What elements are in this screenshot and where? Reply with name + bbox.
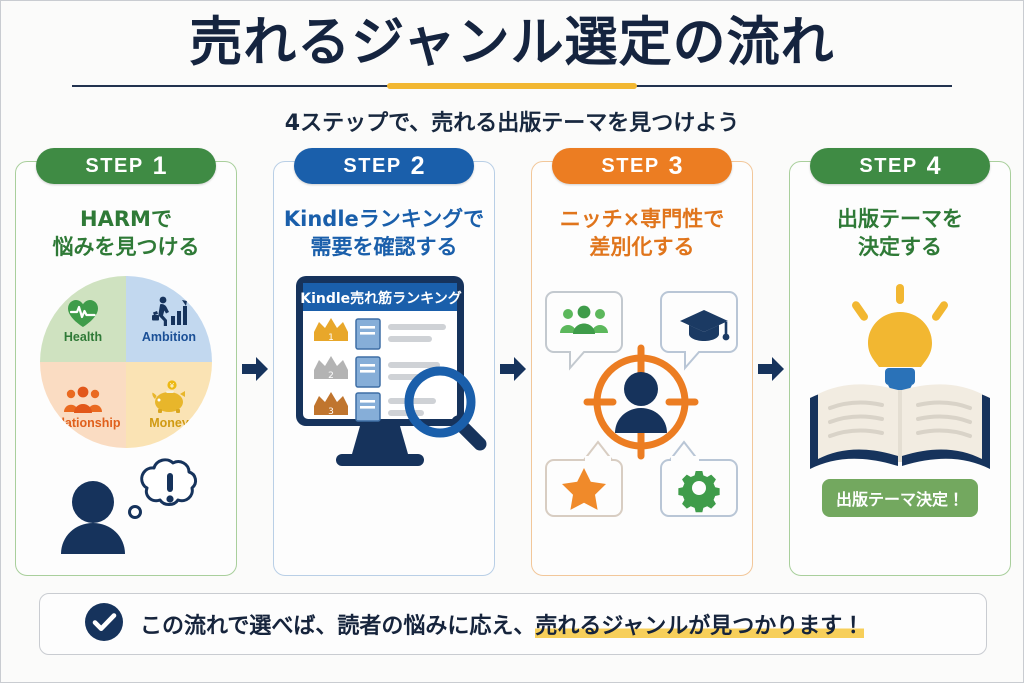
step-badge-number: 1	[153, 152, 167, 181]
step-card-2: STEP 2 Kindleランキングで 需要を確認する	[273, 161, 495, 576]
step-badge-number: 2	[411, 152, 425, 181]
step-title-line1: 出版テーマを	[790, 206, 1010, 234]
step-title-3: ニッチ×専門性で 差別化する	[532, 206, 752, 261]
page-title: 売れるジャンル選定の流れ	[1, 15, 1023, 71]
right-arrow-icon	[240, 354, 270, 384]
steps-row: STEP 1 HARMで 悩みを見つける Heal	[15, 161, 1011, 581]
step-title-line2: 悩みを見つける	[16, 234, 236, 262]
harm-quadrant-money: ¥ Money	[126, 362, 212, 448]
step-title-line1: HARMで	[16, 206, 236, 234]
right-arrow-icon	[756, 354, 786, 384]
step-title-line2: 決定する	[790, 234, 1010, 262]
step-badge-label: STEP	[859, 155, 917, 178]
step-title-line2: 差別化する	[532, 234, 752, 262]
step-badge-2: STEP 2	[294, 148, 474, 184]
svg-text:1: 1	[328, 333, 334, 343]
people-group-icon	[62, 380, 104, 414]
harm-quadrant-relationship: Relationship	[40, 362, 126, 448]
target-person-icon	[587, 348, 695, 456]
step-badge-4: STEP 4	[810, 148, 990, 184]
svg-text:2: 2	[328, 371, 334, 381]
harm-label-ambition: Ambition	[142, 330, 196, 344]
step-badge-label: STEP	[85, 155, 143, 178]
harm-label-money: Money	[149, 416, 189, 430]
step-arrow-3	[753, 161, 789, 576]
heart-pulse-icon	[66, 294, 100, 328]
footer-banner: この流れで選べば、読者の悩みに応え、売れるジャンルが見つかります！	[39, 593, 987, 655]
bubble-gear	[661, 442, 737, 516]
step-badge-number: 3	[669, 152, 683, 181]
screen-header-label: Kindle売れ筋ランキング	[300, 288, 462, 308]
harm-circle: Health	[40, 276, 212, 448]
infographic-page: 売れるジャンル選定の流れ 4ステップで、売れる出版テーマを見つけよう STEP …	[0, 0, 1024, 683]
step-title-line2: 需要を確認する	[274, 234, 494, 262]
step-card-1: STEP 1 HARMで 悩みを見つける Heal	[15, 161, 237, 576]
climbing-person-chart-icon	[149, 294, 189, 328]
step-badge-number: 4	[927, 152, 941, 181]
step-title-4: 出版テーマを 決定する	[790, 206, 1010, 261]
step-arrow-2	[495, 161, 531, 576]
piggy-bank-icon: ¥	[150, 380, 188, 414]
bubble-people	[546, 292, 622, 368]
check-circle-icon	[84, 602, 124, 647]
harm-quadrant-health: Health	[40, 276, 126, 362]
step-badge-label: STEP	[343, 155, 401, 178]
right-arrow-icon	[498, 354, 528, 384]
harm-label-relationship: Relationship	[45, 416, 120, 430]
title-divider	[72, 83, 952, 89]
harm-label-health: Health	[64, 330, 102, 344]
footer-text: この流れで選べば、読者の悩みに応え、売れるジャンルが見つかります！	[140, 608, 864, 640]
bubble-graduation	[661, 292, 737, 368]
step-badge-1: STEP 1	[36, 148, 216, 184]
harm-quadrant-ambition: Ambition	[126, 276, 212, 362]
header: 売れるジャンル選定の流れ 4ステップで、売れる出版テーマを見つけよう	[1, 1, 1023, 137]
step-2-art: 1 2	[274, 274, 494, 569]
divider-accent	[387, 83, 637, 89]
step-card-3: STEP 3 ニッチ×専門性で 差別化する	[531, 161, 753, 576]
step-card-4: STEP 4 出版テーマを 決定する	[789, 161, 1011, 576]
step-title-1: HARMで 悩みを見つける	[16, 206, 236, 261]
exclamation-thought-bubble-icon	[130, 460, 196, 518]
step-4-art: 出版テーマ決定！	[790, 274, 1010, 569]
step-badge-label: STEP	[601, 155, 659, 178]
step-title-line1: ニッチ×専門性で	[532, 206, 752, 234]
step-3-art	[532, 274, 752, 569]
bubble-star	[546, 442, 622, 516]
svg-text:3: 3	[328, 407, 334, 417]
footer-text-plain: この流れで選べば、読者の悩みに応え、	[140, 614, 535, 639]
step-title-line1: Kindleランキングで	[274, 206, 494, 234]
niche-specialty-diagram	[532, 270, 752, 530]
svg-text:¥: ¥	[170, 382, 175, 390]
footer-text-highlighted: 売れるジャンルが見つかります！	[535, 614, 864, 639]
thinking-person	[31, 454, 221, 554]
monitor-illustration: 1 2	[278, 274, 490, 504]
step-arrow-1	[237, 161, 273, 576]
result-chip: 出版テーマ決定！	[822, 479, 978, 517]
step-1-art: Health	[16, 274, 236, 569]
step-badge-3: STEP 3	[552, 148, 732, 184]
open-book-lightbulb-icon	[800, 276, 1000, 471]
page-subtitle: 4ステップで、売れる出版テーマを見つけよう	[1, 105, 1023, 137]
step-title-2: Kindleランキングで 需要を確認する	[274, 206, 494, 261]
